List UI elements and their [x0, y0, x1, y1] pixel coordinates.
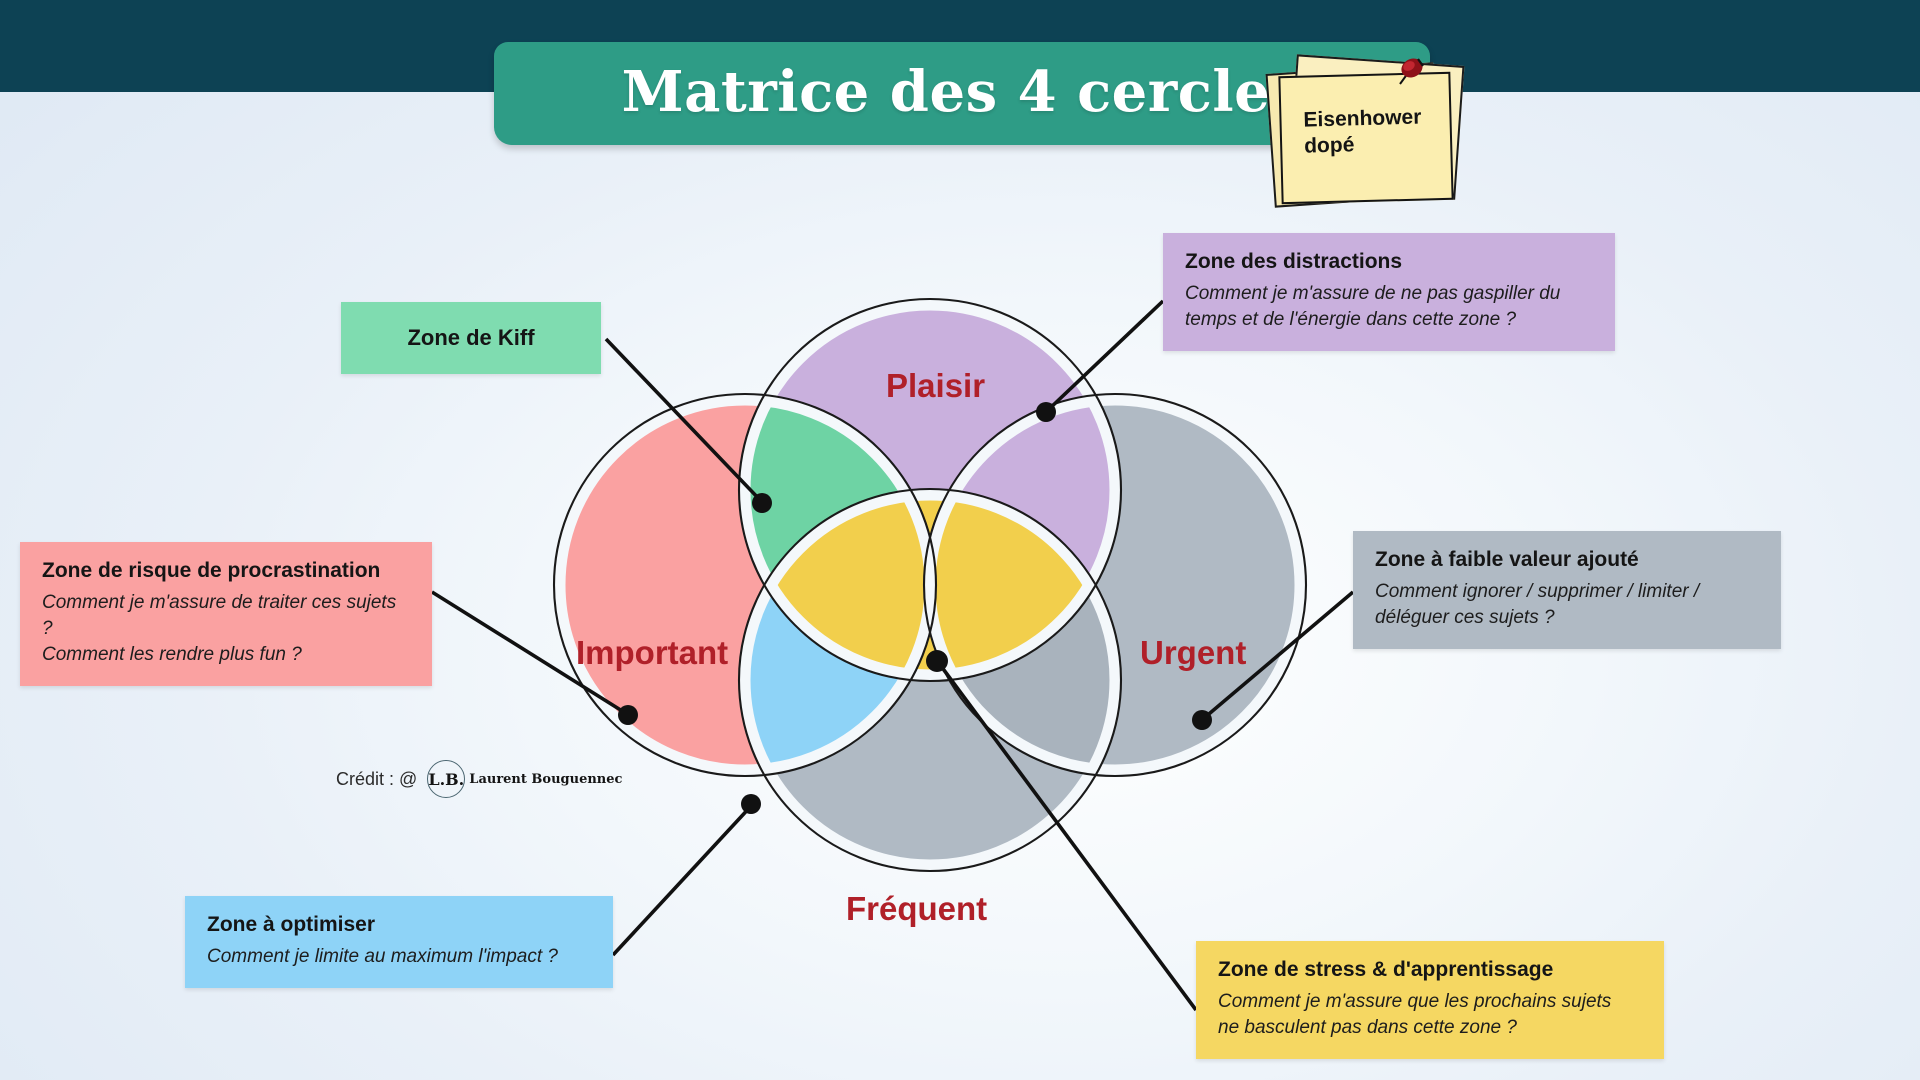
callout-zone-des-distractions[interactable]: Zone des distractions Comment je m'assur… [1163, 233, 1615, 351]
callout-body-line: Comment je m'assure que les prochains su… [1218, 989, 1642, 1015]
venn-label-frequent: Fréquent [846, 890, 987, 928]
slide-canvas: Matrice des 4 cercles Eisenhower dopé [0, 0, 1920, 1080]
callout-body: Comment ignorer / supprimer / limiter / … [1375, 579, 1759, 631]
callout-body: Comment je m'assure de ne pas gaspiller … [1185, 281, 1593, 333]
author-logo-icon: L.B. [427, 760, 465, 798]
callout-body-line: ne basculent pas dans cette zone ? [1218, 1015, 1642, 1041]
callout-body-line: Comment je m'assure de traiter ces sujet… [42, 590, 410, 642]
venn-label-urgent: Urgent [1140, 634, 1246, 672]
callout-body: Comment je limite au maximum l'impact ? [207, 944, 591, 970]
callout-title: Zone à faible valeur ajouté [1375, 547, 1759, 573]
callout-title: Zone des distractions [1185, 249, 1593, 275]
callout-body-line: Comment ignorer / supprimer / limiter / [1375, 579, 1759, 605]
connector-dot-procrast [618, 705, 638, 725]
credit-author: Laurent Bouguennec [469, 772, 622, 787]
connector-dot-optimiser [741, 794, 761, 814]
callout-zone-a-optimiser[interactable]: Zone à optimiser Comment je limite au ma… [185, 896, 613, 988]
connector-dot-faible [1192, 710, 1212, 730]
callout-title: Zone de risque de procrastination [42, 558, 410, 584]
callout-body-line: Comment je m'assure de ne pas gaspiller … [1185, 281, 1593, 307]
credit-block: Crédit : @ L.B. Laurent Bouguennec [336, 760, 622, 798]
callout-zone-de-kiff[interactable]: Zone de Kiff [341, 302, 601, 374]
callout-title: Zone de Kiff [407, 324, 534, 352]
callout-zone-de-stress-apprentissage[interactable]: Zone de stress & d'apprentissage Comment… [1196, 941, 1664, 1059]
venn-label-important: Important [576, 634, 728, 672]
callout-body-line: temps et de l'énergie dans cette zone ? [1185, 307, 1593, 333]
callout-title: Zone à optimiser [207, 912, 591, 938]
callout-body: Comment je m'assure que les prochains su… [1218, 989, 1642, 1041]
callout-body-line: déléguer ces sujets ? [1375, 605, 1759, 631]
callout-title: Zone de stress & d'apprentissage [1218, 957, 1642, 983]
callout-body: Comment je m'assure de traiter ces sujet… [42, 590, 410, 667]
venn-label-plaisir: Plaisir [886, 367, 985, 405]
callout-body-line: Comment je limite au maximum l'impact ? [207, 944, 591, 970]
connector-dot-kiff [752, 493, 772, 513]
connector-dot-distractions [1036, 402, 1056, 422]
callout-body-line: Comment les rendre plus fun ? [42, 642, 410, 668]
callout-zone-de-risque-de-procrastination[interactable]: Zone de risque de procrastination Commen… [20, 542, 432, 686]
callout-zone-a-faible-valeur-ajoute[interactable]: Zone à faible valeur ajouté Comment igno… [1353, 531, 1781, 649]
connector-dot-stress [926, 650, 948, 672]
credit-label: Crédit : @ [336, 769, 417, 790]
